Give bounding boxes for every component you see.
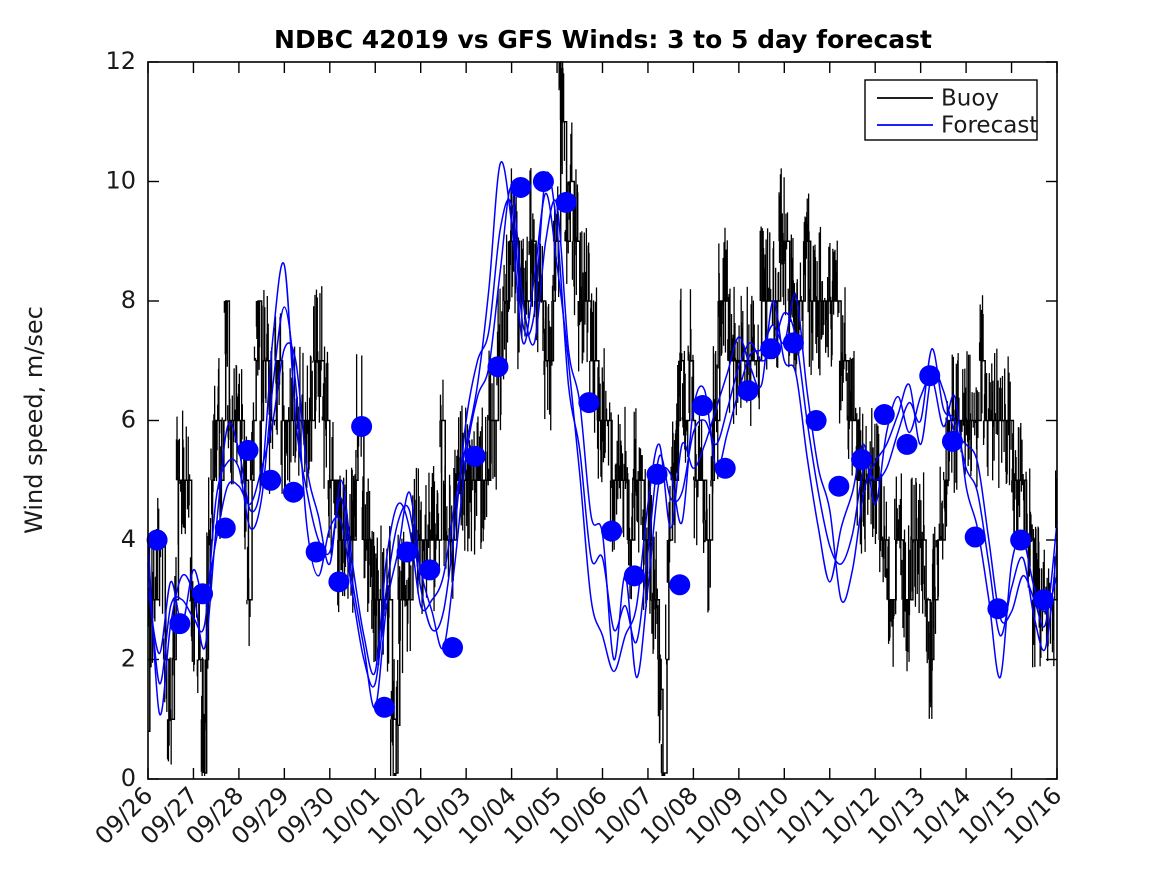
chart-legend[interactable]: Buoy Forecast xyxy=(865,80,1038,140)
legend-label-buoy: Buoy xyxy=(941,86,999,112)
data-point-marker xyxy=(851,449,872,470)
data-point-marker xyxy=(692,395,713,416)
data-point-marker xyxy=(919,365,940,386)
data-point-marker xyxy=(147,530,168,551)
data-point-marker xyxy=(306,541,327,562)
data-point-marker xyxy=(715,458,736,479)
data-point-marker xyxy=(760,338,781,359)
data-point-marker xyxy=(783,332,804,353)
data-point-marker xyxy=(169,613,190,634)
data-point-marker xyxy=(897,434,918,455)
figure-canvas: NDBC 42019 vs GFS Winds: 3 to 5 day fore… xyxy=(0,0,1167,875)
data-point-marker xyxy=(601,521,622,542)
data-point-marker xyxy=(260,470,281,491)
data-point-marker xyxy=(397,541,418,562)
data-point-marker xyxy=(624,565,645,586)
data-point-marker xyxy=(374,697,395,718)
data-point-marker xyxy=(942,431,963,452)
page-title: NDBC 42019 vs GFS Winds: 3 to 5 day fore… xyxy=(274,25,932,54)
y-tick-label: 6 xyxy=(121,406,136,434)
data-point-marker xyxy=(442,637,463,658)
data-point-marker xyxy=(1010,530,1031,551)
data-point-marker xyxy=(465,446,486,467)
data-point-marker xyxy=(510,177,531,198)
y-tick-label: 10 xyxy=(105,167,136,195)
data-point-marker xyxy=(215,518,236,539)
y-tick-label: 8 xyxy=(121,286,136,314)
data-point-marker xyxy=(556,192,577,213)
data-point-marker xyxy=(987,598,1008,619)
data-point-marker xyxy=(419,559,440,580)
data-point-marker xyxy=(965,527,986,548)
y-tick-label: 4 xyxy=(121,525,136,553)
data-point-marker xyxy=(828,476,849,497)
data-point-marker xyxy=(806,410,827,431)
y-tick-label: 12 xyxy=(105,47,136,75)
data-point-marker xyxy=(283,482,304,503)
data-point-marker xyxy=(192,583,213,604)
wind-speed-chart: NDBC 42019 vs GFS Winds: 3 to 5 day fore… xyxy=(0,0,1167,875)
data-point-marker xyxy=(533,171,554,192)
data-point-marker xyxy=(874,404,895,425)
data-point-marker xyxy=(237,440,258,461)
y-tick-label: 2 xyxy=(121,645,136,673)
legend-label-forecast: Forecast xyxy=(941,113,1038,139)
data-point-marker xyxy=(487,356,508,377)
data-point-marker xyxy=(328,571,349,592)
y-axis-label: Wind speed, m/sec xyxy=(20,306,48,534)
data-point-marker xyxy=(1033,589,1054,610)
data-point-marker xyxy=(669,574,690,595)
data-point-marker xyxy=(578,392,599,413)
data-point-marker xyxy=(351,416,372,437)
data-point-marker xyxy=(737,380,758,401)
data-point-marker xyxy=(647,464,668,485)
